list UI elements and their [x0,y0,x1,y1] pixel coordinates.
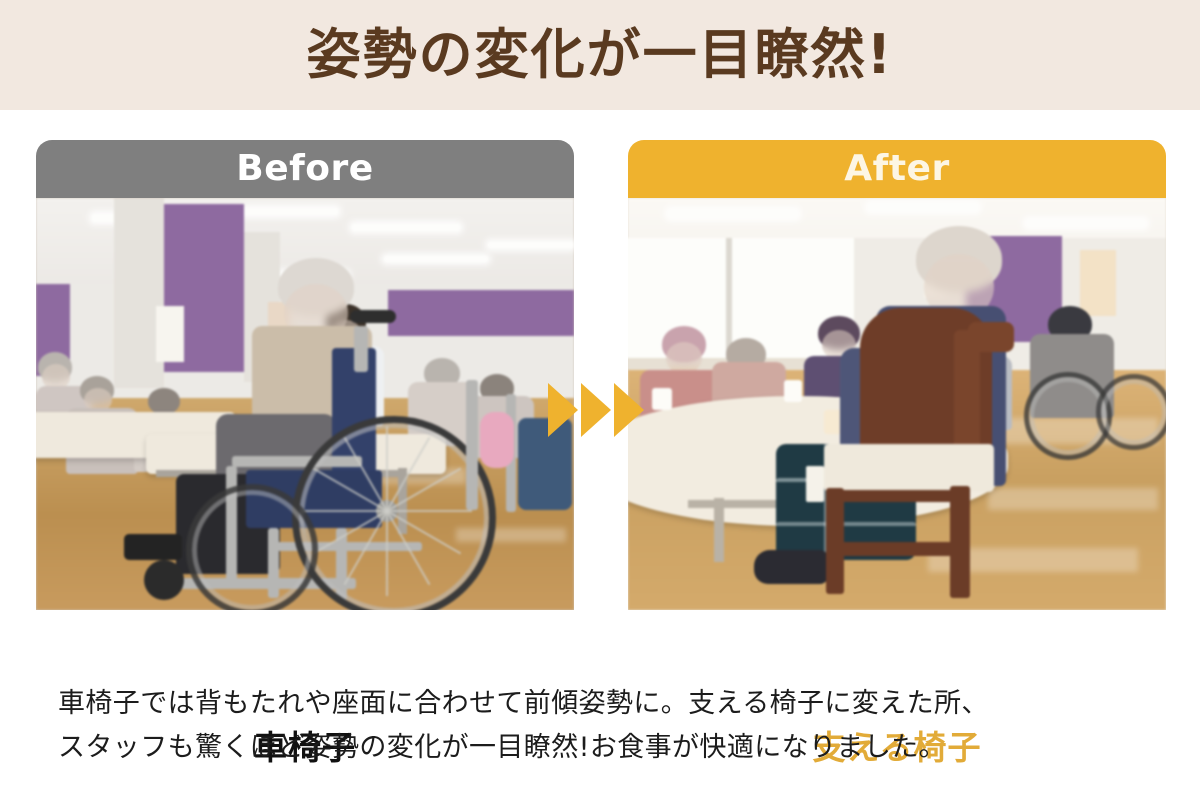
window-frame [726,238,732,358]
before-photo-scene [36,198,574,610]
cup [652,388,672,410]
ceiling-light [384,256,488,262]
ceiling-light [668,210,798,218]
resident-shoe [754,550,828,584]
before-panel: Before [36,140,574,610]
ceiling-light [242,208,338,215]
background-cushion [480,412,514,468]
floor-reflection [988,488,1158,510]
purple-wall-panel [388,290,574,336]
before-photo [36,198,574,610]
description-line-1: 車椅子では背もたれや座面に合わせて前傾姿勢に。支える椅子に変えた所、 [58,682,1148,726]
before-after-comparison: Before [0,110,1200,670]
wheelchair-handle-grip [350,310,396,323]
background-wheelchair-wheel [1096,374,1166,450]
chair-stretcher [828,542,968,556]
after-panel: After [628,140,1166,610]
transition-arrows [548,378,648,442]
arrow-right-icon [614,383,644,437]
background-person [148,388,180,414]
poster-page: 姿勢の変化が一目瞭然! Before [0,0,1200,800]
wheelchair-handle [354,326,368,372]
arrow-right-icon [581,383,611,437]
after-badge-label: After [844,151,949,187]
ceiling-light [1026,220,1146,227]
before-badge-label: Before [236,151,373,187]
chair-seat-cushion [824,444,994,492]
after-photo [628,198,1166,610]
description-text: 車椅子では背もたれや座面に合わせて前傾姿勢に。支える椅子に変えた所、 スタッフも… [58,682,1148,769]
poster-on-wall [1080,250,1116,316]
chair-leg [826,488,844,594]
arrow-right-icon [548,383,578,437]
resident-skirt-pattern [776,522,916,526]
wheelchair-caster [144,560,184,600]
description-line-2: スタッフも驚くほど姿勢の変化が一目瞭然!お食事が快適になりました。 [58,726,1148,770]
chair-side-rail [834,490,964,502]
ceiling-light [868,204,978,211]
after-photo-scene [628,198,1166,610]
wheelchair-footplate [124,534,182,560]
before-badge: Before [36,140,574,198]
poster-on-wall [156,306,184,362]
background-walker [466,380,478,510]
after-badge: After [628,140,1166,198]
wheelchair-wheel [186,484,318,610]
cup [784,380,802,402]
header-band: 姿勢の変化が一目瞭然! [0,0,1200,110]
ceiling-light [352,224,460,231]
ceiling-light [488,242,574,248]
page-title: 姿勢の変化が一目瞭然! [307,28,894,82]
chair-tag [806,466,824,502]
